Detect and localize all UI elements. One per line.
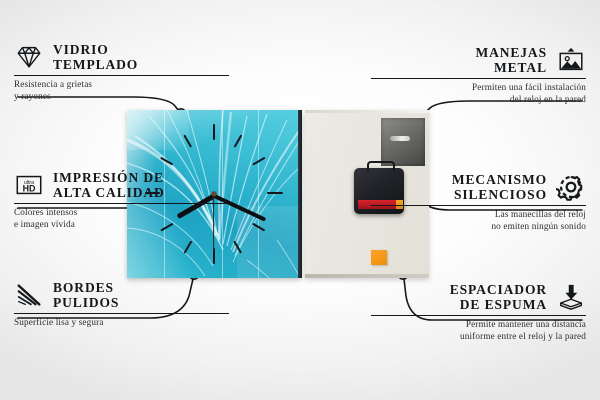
clock-tick-12 <box>213 124 215 140</box>
feature-description: Colores intensos e imagen vívida <box>14 207 229 230</box>
picture-hanger-icon <box>556 45 586 75</box>
polished-edges-icon <box>14 280 44 310</box>
diamond-icon <box>14 42 44 72</box>
feature-head: MANEJAS METAL <box>371 45 586 75</box>
infographic-canvas: VIDRIO TEMPLADO Resistencia a grietas y … <box>0 0 600 400</box>
feature-rule <box>371 315 586 316</box>
foam-spacer-icon <box>556 282 586 312</box>
ultra-hd-icon: ultra HD <box>14 170 44 200</box>
feature-title: MECANISMO SILENCIOSO <box>371 172 547 202</box>
feature-head: ESPACIADOR DE ESPUMA <box>371 282 586 312</box>
svg-text:HD: HD <box>23 184 36 194</box>
feature-bordes-pulidos: BORDES PULIDOS Superficie lisa y segura <box>14 280 229 329</box>
feature-manejas-metal: MANEJAS METAL Permiten una fácil instala… <box>371 45 586 105</box>
feature-head: MECANISMO SILENCIOSO <box>371 172 586 202</box>
feature-description: Superficie lisa y segura <box>14 317 229 329</box>
feature-vidrio-templado: VIDRIO TEMPLADO Resistencia a grietas y … <box>14 42 229 102</box>
feature-rule <box>371 78 586 79</box>
gear-icon <box>556 172 586 202</box>
glass-seam-3 <box>258 110 259 278</box>
feature-rule <box>14 203 229 204</box>
feature-title: MANEJAS METAL <box>371 45 547 75</box>
feature-title: BORDES PULIDOS <box>53 280 119 310</box>
feature-impresion-alta-calidad: ultra HD IMPRESIÓN DE ALTA CALIDAD Color… <box>14 170 229 230</box>
feature-description: Permiten una fácil instalación del reloj… <box>371 82 586 105</box>
back-panel-bottom-edge <box>305 274 429 278</box>
feature-head: VIDRIO TEMPLADO <box>14 42 229 72</box>
feature-title: ESPACIADOR DE ESPUMA <box>371 282 547 312</box>
movement-bracket <box>367 161 395 171</box>
feature-espaciador-espuma: ESPACIADOR DE ESPUMA Permite mantener un… <box>371 282 586 342</box>
hanger-slot <box>390 136 410 141</box>
feature-title: VIDRIO TEMPLADO <box>53 42 138 72</box>
feature-rule <box>14 313 229 314</box>
back-panel-top-edge <box>305 110 429 113</box>
feature-description: Permite mantener una distancia uniforme … <box>371 319 586 342</box>
clock-side-edge <box>298 110 302 278</box>
feature-head: BORDES PULIDOS <box>14 280 229 310</box>
feature-head: ultra HD IMPRESIÓN DE ALTA CALIDAD <box>14 170 229 200</box>
feature-rule <box>371 205 586 206</box>
feature-mecanismo-silencioso: MECANISMO SILENCIOSO Las manecillas del … <box>371 172 586 232</box>
feature-title: IMPRESIÓN DE ALTA CALIDAD <box>53 170 165 200</box>
feature-rule <box>14 75 229 76</box>
foam-spacer <box>371 250 387 265</box>
feature-description: Las manecillas del reloj no emiten ningú… <box>371 209 586 232</box>
metal-hanger-plate <box>381 118 425 166</box>
feature-description: Resistencia a grietas y rayones <box>14 79 229 102</box>
